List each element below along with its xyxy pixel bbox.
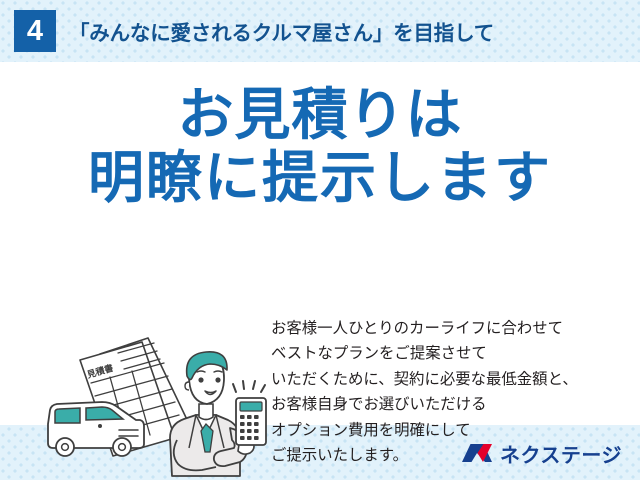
illustration-svg: 見積書 [44,320,274,480]
step-number-badge: 4 [14,10,56,52]
body-copy-line-4: お客様自身でお選びいただける [271,392,627,417]
header-bar: 4 「みんなに愛されるクルマ屋さん」を目指して [0,0,640,62]
body-copy-line-2: ベストなプランをご提案させて [271,341,627,366]
body-copy-line-1: お客様一人ひとりのカーライフに合わせて [271,316,627,341]
calculator [236,398,266,445]
content-panel: お見積りは 明瞭に提示します [0,62,640,425]
illustration-sales-consultation: 見積書 [44,320,274,480]
body-copy-line-3: いただくために、契約に必要な最低金額と、 [271,367,627,392]
headline-line-1: お見積りは [0,84,640,147]
header-title: 「みんなに愛されるクルマ屋さん」を目指して [69,16,494,46]
brand-name: ネクステージ [500,439,622,468]
headline: お見積りは 明瞭に提示します [0,84,640,209]
sparkle-icon [233,381,265,392]
headline-line-2: 明瞭に提示します [0,147,640,210]
advertisement-banner: 4 「みんなに愛されるクルマ屋さん」を目指して お見積りは 明瞭に提示します [0,0,640,480]
brand-logo: ネクステージ [461,439,622,467]
nextage-n-logo-icon [461,441,493,465]
